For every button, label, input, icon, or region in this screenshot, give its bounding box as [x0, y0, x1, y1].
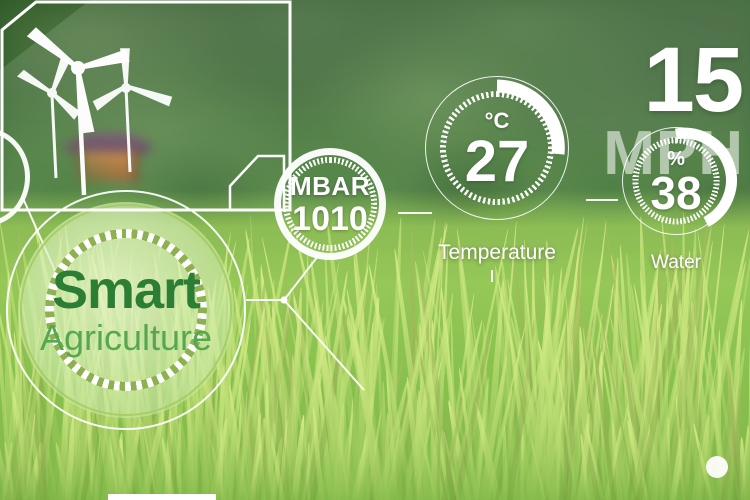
wind-corner-frame	[230, 156, 284, 210]
wind-panel-graphics	[0, 0, 292, 212]
wind-panel-bar	[108, 494, 216, 500]
smart-agriculture-scene: Smart Agriculture MBAR 1010 °C 27 Temper…	[0, 0, 750, 500]
wind-speed-unit: MPH	[603, 118, 744, 189]
wind-turbine-icon	[95, 50, 170, 172]
wind-turbine-icon	[20, 60, 78, 178]
wind-turbine-icon	[30, 30, 127, 195]
wind-speed-panel[interactable]: 15 MPH	[0, 0, 292, 212]
wind-panel-frame	[2, 2, 290, 210]
wind-status-dot	[706, 456, 728, 478]
